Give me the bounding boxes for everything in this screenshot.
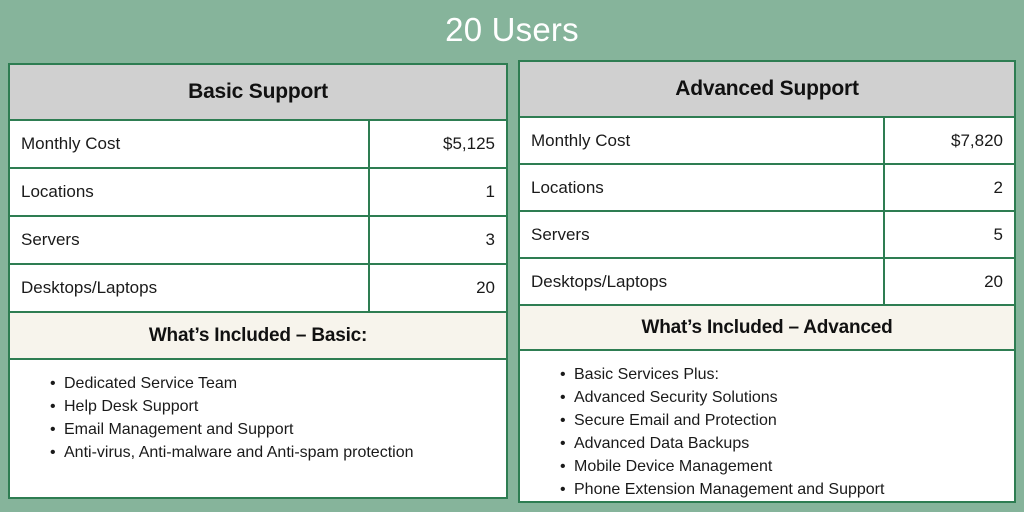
included-list-advanced: Basic Services Plus: Advanced Security S… [520, 351, 1014, 501]
spec-label: Monthly Cost [520, 118, 885, 163]
spec-label: Servers [520, 212, 885, 257]
spec-table-advanced: Monthly Cost $7,820 Locations 2 Servers … [520, 118, 1014, 306]
table-row: Desktops/Laptops 20 [10, 265, 506, 313]
list-item: Anti-virus, Anti-malware and Anti-spam p… [50, 441, 506, 464]
table-row: Servers 3 [10, 217, 506, 265]
list-item: Dedicated Service Team [50, 372, 506, 395]
list-item: Mobile Device Management [560, 455, 1014, 478]
included-list-basic: Dedicated Service Team Help Desk Support… [10, 360, 506, 497]
plan-card-basic: Basic Support Monthly Cost $5,125 Locati… [8, 63, 508, 499]
spec-value: $7,820 [885, 118, 1014, 163]
spec-label: Desktops/Laptops [520, 259, 885, 304]
table-row: Locations 1 [10, 169, 506, 217]
included-header-advanced: What’s Included – Advanced [520, 306, 1014, 351]
list-item: Phone Extension Management and Support [560, 478, 1014, 501]
list-item: Advanced Security Solutions [560, 386, 1014, 409]
spec-label: Desktops/Laptops [10, 265, 370, 311]
plan-card-advanced: Advanced Support Monthly Cost $7,820 Loc… [518, 60, 1016, 503]
plan-header-advanced: Advanced Support [520, 62, 1014, 118]
list-item: Basic Services Plus: [560, 363, 1014, 386]
spec-value: 20 [885, 259, 1014, 304]
page-title: 20 Users [0, 8, 1024, 52]
table-row: Locations 2 [520, 165, 1014, 212]
spec-label: Locations [520, 165, 885, 210]
plan-header-basic: Basic Support [10, 65, 506, 121]
spec-value: 3 [370, 217, 506, 263]
list-item: Email Management and Support [50, 418, 506, 441]
table-row: Desktops/Laptops 20 [520, 259, 1014, 306]
spec-value: 2 [885, 165, 1014, 210]
spec-value: 20 [370, 265, 506, 311]
spec-value: $5,125 [370, 121, 506, 167]
table-row: Monthly Cost $5,125 [10, 121, 506, 169]
spec-label: Servers [10, 217, 370, 263]
spec-label: Locations [10, 169, 370, 215]
table-row: Servers 5 [520, 212, 1014, 259]
list-item: Secure Email and Protection [560, 409, 1014, 432]
spec-label: Monthly Cost [10, 121, 370, 167]
included-header-basic: What’s Included – Basic: [10, 313, 506, 360]
table-row: Monthly Cost $7,820 [520, 118, 1014, 165]
list-item: Advanced Data Backups [560, 432, 1014, 455]
spec-table-basic: Monthly Cost $5,125 Locations 1 Servers … [10, 121, 506, 313]
list-item: Help Desk Support [50, 395, 506, 418]
spec-value: 1 [370, 169, 506, 215]
spec-value: 5 [885, 212, 1014, 257]
